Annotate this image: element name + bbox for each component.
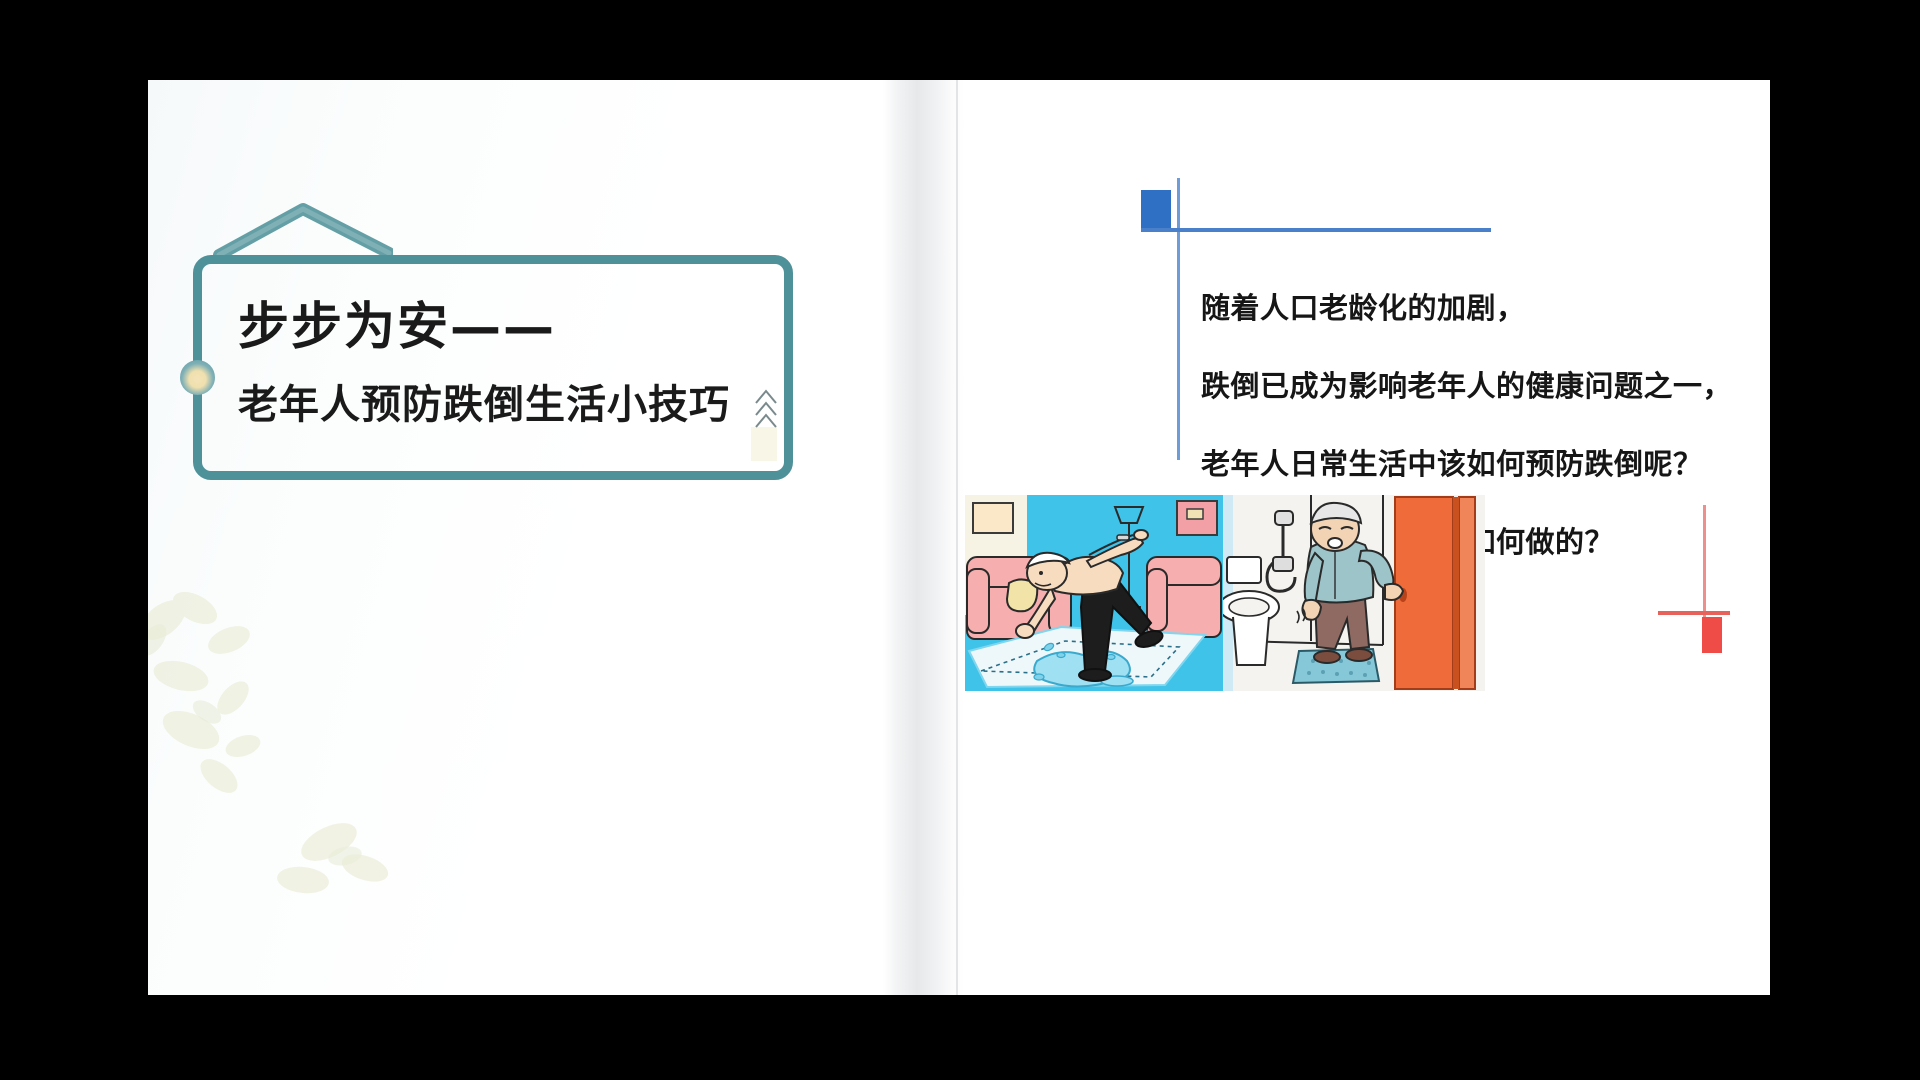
photo-living-room-fall — [965, 495, 1223, 691]
body-line: 跌倒已成为影响老年人的健康问题之一， — [1201, 363, 1761, 405]
page-fold — [883, 80, 965, 995]
blue-vertical-rule — [1177, 178, 1180, 460]
page-fold-line — [956, 80, 958, 995]
blue-square-marker — [1141, 190, 1171, 232]
leaf-decoration-icon — [148, 580, 463, 920]
pale-tab-decoration — [751, 427, 777, 461]
photo-bathroom-support — [1223, 495, 1485, 691]
page-title: 步步为安—— — [238, 300, 798, 356]
title-block: 步步为安—— 老年人预防跌倒生活小技巧 — [238, 300, 798, 428]
pin-head-icon — [180, 360, 215, 395]
body-line: 老年人日常生活中该如何预防跌倒呢？ — [1201, 441, 1761, 483]
document-spread: 步步为安—— 老年人预防跌倒生活小技巧 — [148, 80, 1770, 995]
page-subtitle: 老年人预防跌倒生活小技巧 — [238, 382, 798, 428]
blue-horizontal-rule — [1141, 228, 1491, 232]
screen-canvas: 步步为安—— 老年人预防跌倒生活小技巧 — [0, 0, 1920, 1080]
left-page: 步步为安—— 老年人预防跌倒生活小技巧 — [148, 80, 883, 995]
right-page: 随着人口老龄化的加剧， 跌倒已成为影响老年人的健康问题之一， 老年人日常生活中该… — [965, 80, 1770, 995]
photo-strip — [965, 495, 1770, 700]
body-line: 随着人口老龄化的加剧， — [1201, 285, 1761, 327]
roof-chevron-icon — [213, 201, 393, 261]
